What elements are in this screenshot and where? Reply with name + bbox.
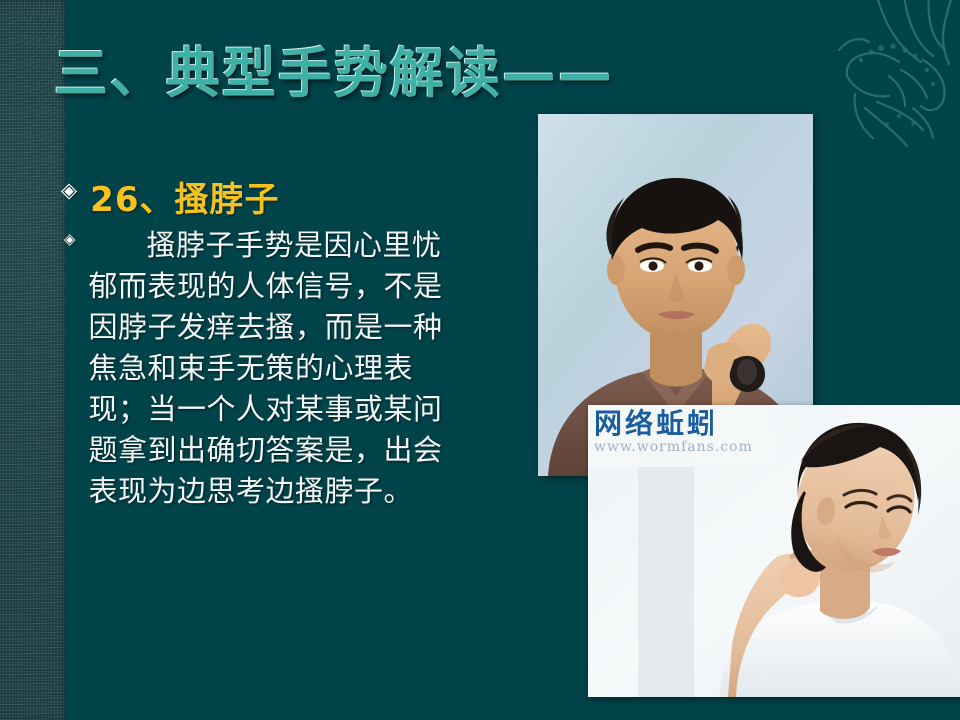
watermark-chinese-text: 网络蚯蚓 <box>594 409 774 439</box>
watermark-url-text: www.wormfans.com <box>594 439 774 455</box>
watermark-wormfans: 网络蚯蚓 www.wormfans.com <box>588 405 774 467</box>
diamond-bullet-icon: ◈ <box>64 233 76 248</box>
paragraph-bullet-row: ◈ 搔脖子手势是因心里忧郁而表现的人体信号，不是因脖子发痒去搔，而是一种焦急和束… <box>56 221 496 541</box>
diamond-bullet-icon: ◈ <box>61 180 77 201</box>
photo-woman-scratching-neck: 网络蚯蚓 www.wormfans.com <box>588 405 960 697</box>
content-column: ◈ 26、搔脖子 ◈ 搔脖子手势是因心里忧郁而表现的人体信号，不是因脖子发痒去搔… <box>56 172 496 541</box>
slide-canvas: 三、典型手势解读—— ◈ 26、搔脖子 ◈ 搔脖子手势是因心里忧郁而表现的人体信… <box>0 0 960 720</box>
slide-title: 三、典型手势解读—— <box>54 46 614 103</box>
heading-bullet-row: ◈ 26、搔脖子 <box>56 172 496 221</box>
body-paragraph: 搔脖子手势是因心里忧郁而表现的人体信号，不是因脖子发痒去搔，而是一种焦急和束手无… <box>89 225 461 512</box>
section-heading: 26、搔脖子 <box>90 172 279 221</box>
